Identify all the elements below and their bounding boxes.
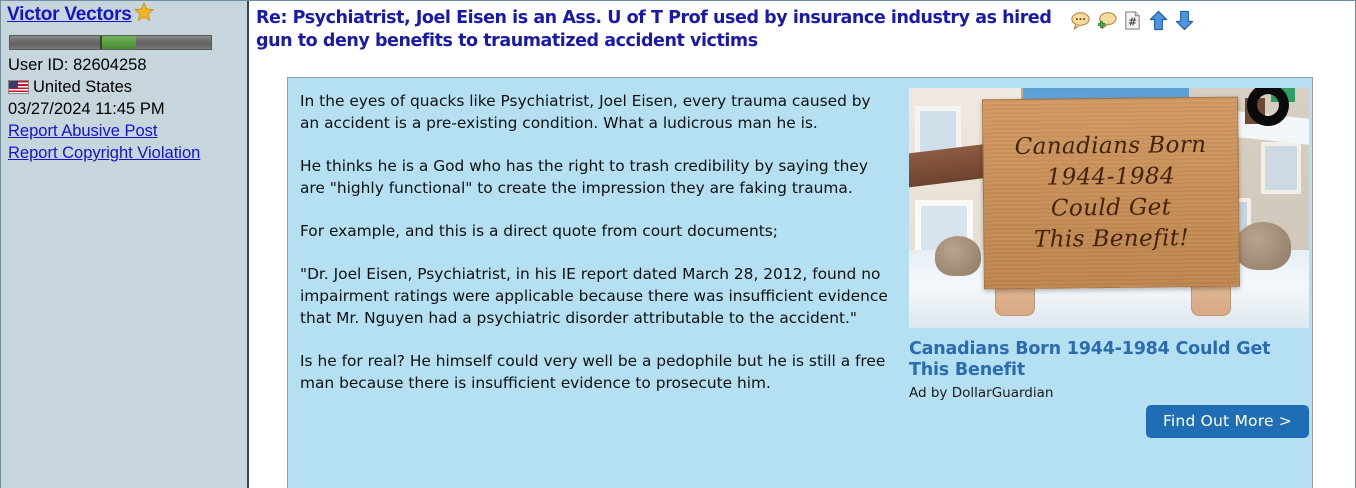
post-paragraph: He thinks he is a God who has the right … (300, 155, 888, 199)
post-content-box: In the eyes of quacks like Psychiatrist,… (287, 77, 1313, 488)
report-copyright-violation-link[interactable]: Report Copyright Violation (8, 142, 243, 164)
star-icon (133, 1, 155, 26)
thread-header: Re: Psychiatrist, Joel Eisen is an Ass. … (249, 1, 1355, 53)
arrow-down-icon[interactable] (1174, 10, 1195, 31)
find-out-more-button[interactable]: Find Out More > (1146, 405, 1309, 438)
ad-sign-line: This Benefit! (1034, 225, 1189, 254)
ad-byline: Ad by DollarGuardian (909, 385, 1309, 401)
post-text-body: In the eyes of quacks like Psychiatrist,… (288, 78, 904, 488)
post-paragraph: In the eyes of quacks like Psychiatrist,… (300, 90, 888, 134)
ad-sign-line: 1944-1984 (1046, 163, 1175, 191)
report-abusive-post-link[interactable]: Report Abusive Post (8, 120, 243, 142)
author-country-label: United States (33, 78, 132, 96)
ad-chimney (1245, 98, 1265, 124)
post-paragraph: Is he for real? He himself could very we… (300, 350, 888, 394)
post-author-sidebar: Victor Vectors User ID: 82604258 United … (0, 1, 249, 488)
advertisement-panel: Canadians Born 1944-1984 Could Get This … (904, 78, 1306, 488)
ad-cardboard-sign: Canadians Born 1944-1984 Could Get This … (982, 97, 1240, 290)
add-comment-icon[interactable] (1096, 10, 1117, 31)
author-country: United States (8, 76, 243, 98)
post-timestamp: 03/27/2024 11:45 PM (8, 98, 243, 120)
page-number-icon[interactable]: # (1122, 10, 1143, 31)
us-flag-icon (8, 80, 29, 94)
author-username-link[interactable]: Victor Vectors (7, 5, 132, 24)
post-main-area: Re: Psychiatrist, Joel Eisen is an Ass. … (249, 1, 1356, 488)
post-paragraph: For example, and this is a direct quote … (300, 220, 888, 242)
ad-sign-line: Could Get (1051, 194, 1172, 222)
post-paragraph: "Dr. Joel Eisen, Psychiatrist, in his IE… (300, 263, 888, 329)
author-user-id: User ID: 82604258 (8, 54, 243, 76)
ad-image[interactable]: Canadians Born 1944-1984 Could Get This … (909, 88, 1309, 328)
ad-cta-row: Find Out More > (909, 401, 1309, 441)
thread-title[interactable]: Re: Psychiatrist, Joel Eisen is an Ass. … (256, 7, 1070, 53)
author-reputation-bar (9, 35, 212, 50)
arrow-up-icon[interactable] (1148, 10, 1169, 31)
post-action-icons: # (1070, 7, 1201, 31)
ad-headline[interactable]: Canadians Born 1944-1984 Could Get This … (909, 339, 1277, 381)
author-identity: Victor Vectors (7, 5, 243, 31)
ad-bush (935, 236, 981, 276)
forum-post-page: Victor Vectors User ID: 82604258 United … (0, 0, 1356, 488)
comment-icon[interactable] (1070, 10, 1091, 31)
ad-bush (1235, 222, 1291, 270)
svg-text:#: # (1128, 16, 1137, 28)
ad-sign-line: Canadians Born (1015, 132, 1207, 161)
